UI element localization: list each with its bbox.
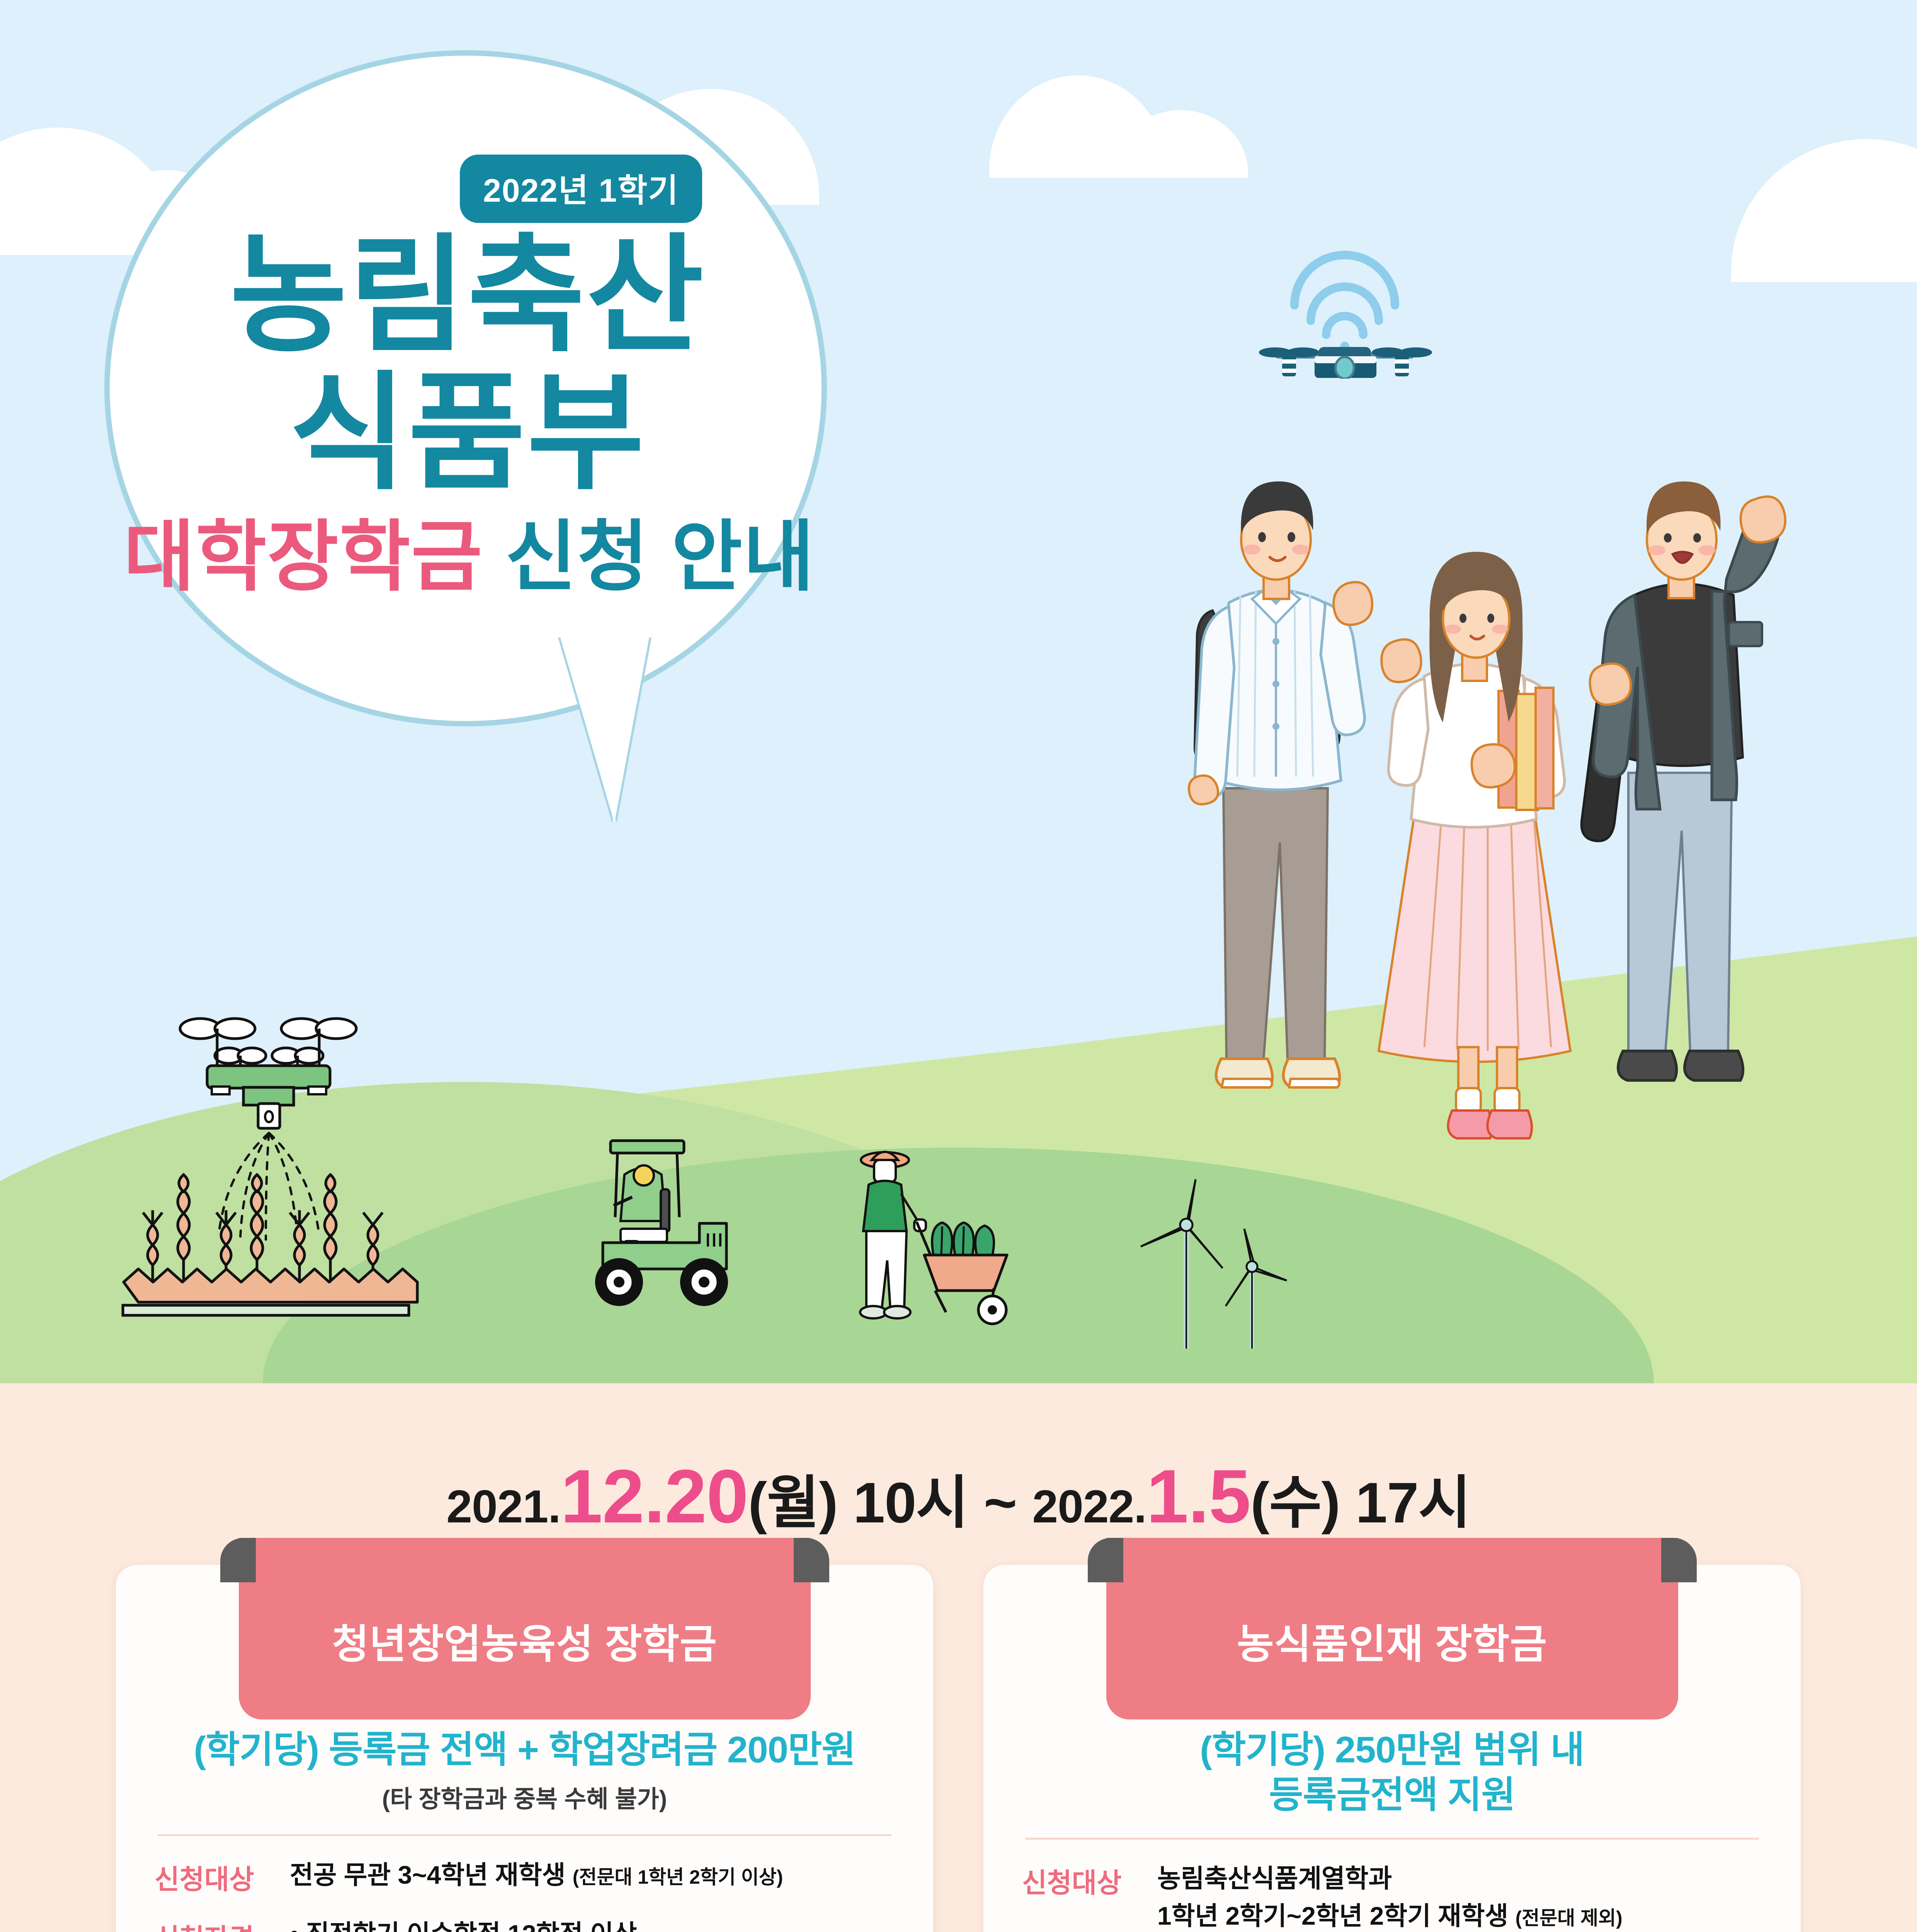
row-line-paren: (전문대 1학년 2학기 이상)	[573, 1866, 783, 1888]
speech-bubble-tail	[560, 638, 649, 823]
card-ribbon-title: 청년창업농육성 장학금	[239, 1538, 811, 1719]
row-line: 1학년 2학기~2학년 2학기 재학생	[1157, 1901, 1516, 1930]
row-label: 신청대상	[155, 1856, 290, 1897]
row-line-paren: (전문대 제외)	[1516, 1907, 1623, 1929]
title-line-1: 농림축산	[124, 232, 811, 359]
card-ribbon-title: 농식품인재 장학금	[1106, 1538, 1678, 1719]
scholarship-card-talent: 농식품인재 장학금 (학기당) 250만원 범위 내 등록금전액 지원 신청대상…	[983, 1565, 1801, 1932]
period-day-start: (월)	[748, 1471, 838, 1535]
title-line-3-rest: 신청 안내	[505, 514, 815, 600]
row-body: 농림축산식품계열학과 1학년 2학기~2학년 2학기 재학생 (전문대 제외)	[1157, 1860, 1762, 1932]
semester-badge: 2022년 1학기	[460, 155, 702, 223]
period-time-start: 10시 ~	[838, 1471, 1032, 1535]
title-line-2: 식품부	[124, 369, 811, 497]
row-line: 농림축산식품계열학과	[1157, 1860, 1762, 1897]
row-line: 전공 무관 3~4학년 재학생	[290, 1861, 573, 1889]
farmer-icon	[842, 1140, 1028, 1325]
scholarship-cards: 청년창업농육성 장학금 (학기당) 등록금 전액 + 학업장려금 200만원 (…	[116, 1565, 1801, 1932]
card-rows: 신청대상 전공 무관 3~4학년 재학생 (전문대 1학년 2학기 이상) 신청…	[116, 1836, 933, 1932]
period-time-end: 17시	[1340, 1471, 1471, 1535]
application-period: 2021.12.20(월) 10시 ~ 2022.1.5(수) 17시	[0, 1453, 1917, 1540]
period-date-start: 12.20	[561, 1454, 748, 1539]
card-row: 신청대상 전공 무관 3~4학년 재학생 (전문대 1학년 2학기 이상)	[155, 1856, 895, 1897]
row-label: 신청자격	[155, 1915, 290, 1932]
students-illustration	[1132, 468, 1835, 1202]
scholarship-card-youth: 청년창업농육성 장학금 (학기당) 등록금 전액 + 학업장려금 200만원 (…	[116, 1565, 933, 1932]
card-rows: 신청대상 농림축산식품계열학과 1학년 2학기~2학년 2학기 재학생 (전문대…	[983, 1840, 1801, 1932]
period-day-end: (수)	[1250, 1471, 1340, 1535]
page-title: 농림축산 식품부 대학장학금 신청 안내	[124, 232, 811, 596]
drone-icon	[1229, 247, 1461, 379]
row-body: 전공 무관 3~4학년 재학생 (전문대 1학년 2학기 이상)	[290, 1856, 895, 1897]
tractor-icon	[549, 1132, 750, 1318]
period-year-end: 2022.	[1032, 1481, 1146, 1532]
content-section: 2021.12.20(월) 10시 ~ 2022.1.5(수) 17시 청년창업…	[0, 1383, 1917, 1932]
row-label: 신청대상	[1022, 1860, 1157, 1932]
row-line: • 직전학기 이수학점 12학점 이상	[290, 1915, 895, 1932]
period-year-start: 2021.	[446, 1481, 560, 1532]
card-row: 신청자격 • 직전학기 이수학점 12학점 이상 • 성적 70점 이상인 만 …	[155, 1915, 895, 1932]
row-body: • 직전학기 이수학점 12학점 이상 • 성적 70점 이상인 만 40세 미…	[290, 1915, 895, 1932]
hero-illustration: 2022년 1학기 농림축산 식품부 대학장학금 신청 안내	[0, 0, 1917, 1383]
card-subnote: (타 장학금과 중복 수혜 불가)	[116, 1779, 933, 1814]
period-date-end: 1.5	[1146, 1454, 1250, 1539]
title-line-3-highlight: 대학장학금	[124, 514, 483, 600]
card-amount: (학기당) 250만원 범위 내 등록금전액 지원	[983, 1727, 1801, 1818]
wheat-field-icon	[120, 1159, 491, 1321]
card-amount: (학기당) 등록금 전액 + 학업장려금 200만원	[116, 1727, 933, 1772]
card-row: 신청대상 농림축산식품계열학과 1학년 2학기~2학년 2학기 재학생 (전문대…	[1022, 1860, 1762, 1932]
